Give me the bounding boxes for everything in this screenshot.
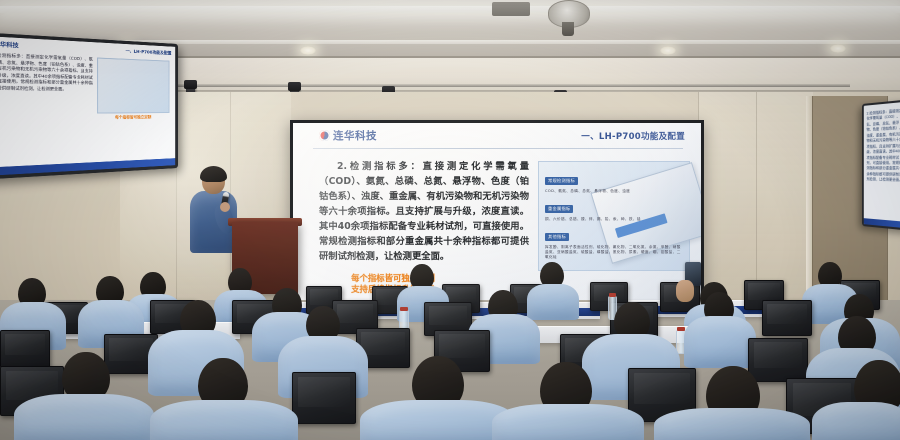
category-block: 常规检测指标 COD、氨氮、总磷、总氮、悬浮物、色度、浊度 xyxy=(545,169,630,194)
category-items: COD、氨氮、总磷、总氮、悬浮物、色度、浊度 xyxy=(545,189,630,194)
slide-body-text: 2.检测指标多：直接测定化学需氧量（COD）、氨氮、总磷、总氮、悬浮物、色度（铂… xyxy=(319,159,529,264)
slide-header-divider xyxy=(313,148,683,149)
wall-panel xyxy=(756,92,813,307)
left-monitor-panel xyxy=(97,57,170,113)
category-tag: 其他指标 xyxy=(545,233,569,242)
caption-line-1: 每个指标皆可独立定制 xyxy=(303,273,483,284)
person-torso xyxy=(150,400,298,440)
audience-monitor xyxy=(748,338,808,382)
category-items: 挥发酚、阴离子表面活性剂、硫化物、氟化物、二氧化氯、余氯、甲醛、硝酸盐氮、亚硝酸… xyxy=(545,245,683,260)
projection-screen-frame: 连华科技 一、LH-P700功能及配置 2.检测指标多：直接测定化学需氧量（CO… xyxy=(290,120,704,316)
left-monitor-logo-text: 连华科技 xyxy=(0,40,19,49)
left-monitor-slide-body: 2.检测指标多：直接测定化学需氧量（COD）、氨氮、总磷、总氮、悬浮物、色度（铂… xyxy=(0,53,93,94)
right-monitor-slide-body: 2.检测指标多：直接测定化学需氧量（COD）、氨氮、总磷、总氮、悬浮物、色度（铂… xyxy=(867,108,900,184)
company-logo: 连华科技 xyxy=(319,128,377,143)
downlight xyxy=(830,44,846,53)
wall-panel xyxy=(698,92,757,307)
logo-mark-icon xyxy=(319,130,330,141)
person-torso xyxy=(654,408,810,440)
right-mirror-monitor[interactable]: 2.检测指标多：直接测定化学需氧量（COD）、氨氮、总磷、总氮、悬浮物、色度（铂… xyxy=(862,99,900,231)
presentation-room-photo: 连华科技 一、LH-P700功能及配置 2.检测指标多：直接测定化学需氧量（CO… xyxy=(0,0,900,440)
company-logo-text: 连华科技 xyxy=(333,128,377,143)
category-items: 铜、六价铬、总铬、镍、锌、镉、铅、汞、砷、铁、锰 xyxy=(545,217,641,222)
left-monitor-panel-caption: 每个指标皆可独立定制 xyxy=(99,115,166,121)
presenter-hair xyxy=(200,166,227,182)
category-block: 重金属指标 铜、六价铬、总铬、镍、锌、镉、铅、汞、砷、铁、锰 xyxy=(545,197,641,222)
person-torso xyxy=(14,394,154,440)
right-monitor-screen: 2.检测指标多：直接测定化学需氧量（COD）、氨氮、总磷、总氮、悬浮物、色度（铂… xyxy=(864,102,900,229)
person-torso xyxy=(492,404,644,440)
category-tag: 重金属指标 xyxy=(545,205,573,214)
left-monitor-slide-title: 一、LH-P700功能及配置 xyxy=(126,48,172,56)
slide-header: 连华科技 一、LH-P700功能及配置 xyxy=(293,123,701,149)
audience-monitor xyxy=(0,330,50,368)
person-torso xyxy=(812,402,900,440)
left-mirror-monitor[interactable]: 连华科技 一、LH-P700功能及配置 2.检测指标多：直接测定化学需氧量（CO… xyxy=(0,32,178,180)
raised-hand xyxy=(676,280,694,302)
category-block: 其他指标 挥发酚、阴离子表面活性剂、硫化物、氟化物、二氧化氯、余氯、甲醛、硝酸盐… xyxy=(545,225,683,260)
audience-monitor xyxy=(762,300,812,336)
projector-stem xyxy=(562,22,574,36)
person-torso xyxy=(527,284,579,320)
downlight xyxy=(660,46,676,55)
audience-monitor xyxy=(292,372,356,424)
projection-screen[interactable]: 连华科技 一、LH-P700功能及配置 2.检测指标多：直接测定化学需氧量（CO… xyxy=(293,123,701,313)
slide-illustration-panel: 常规检测指标 COD、氨氮、总磷、总氮、悬浮物、色度、浊度 重金属指标 铜、六价… xyxy=(538,161,690,271)
category-tag: 常规检测指标 xyxy=(545,177,578,186)
person-torso xyxy=(684,316,756,368)
presenter-hand xyxy=(220,202,230,212)
lighting-track-rail xyxy=(150,84,850,87)
ceiling-vent xyxy=(492,2,530,16)
downlight xyxy=(300,46,316,55)
slide-title: 一、LH-P700功能及配置 xyxy=(581,130,685,142)
ceiling-light-strip xyxy=(0,6,900,13)
left-monitor-screen: 连华科技 一、LH-P700功能及配置 2.检测指标多：直接测定化学需氧量（CO… xyxy=(0,36,175,177)
